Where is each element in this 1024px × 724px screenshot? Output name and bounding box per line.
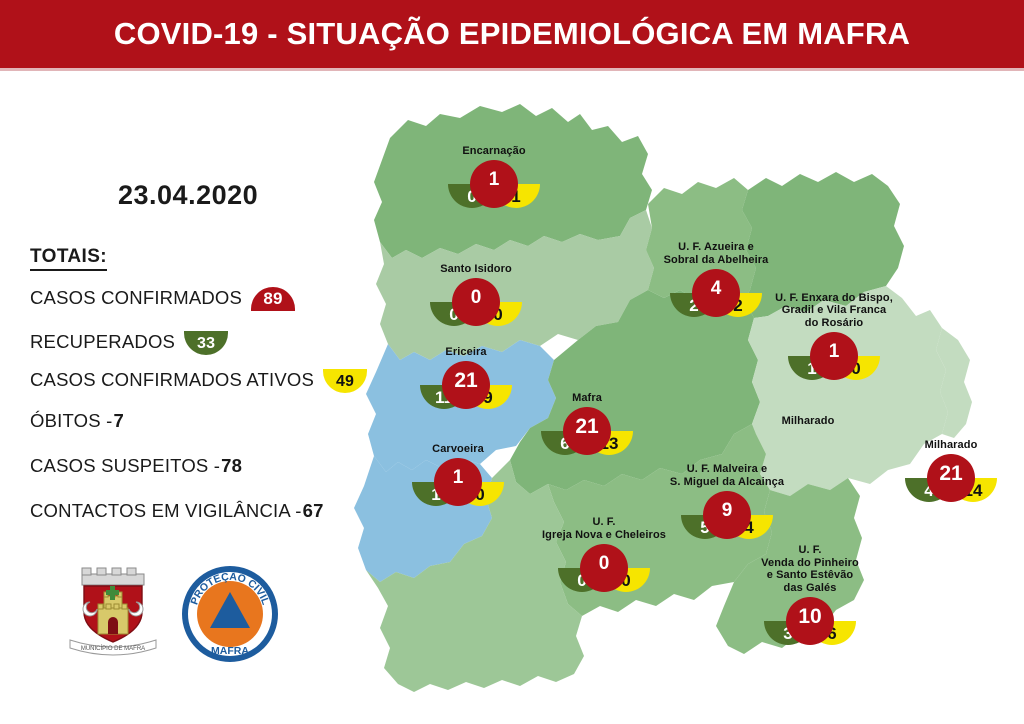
stat-row-0: CASOS CONFIRMADOS89: [30, 286, 295, 310]
map-marker-santo-isidoro[interactable]: Santo Isidoro000: [430, 278, 522, 350]
marker-confirmed-uf-enxara-gradil-vila-franca: 1: [810, 332, 858, 380]
map-marker-encarnacao[interactable]: Encarnação011: [448, 160, 540, 232]
totals-heading: TOTAIS:: [30, 246, 107, 271]
marker-label-santo-isidoro: Santo Isidoro: [360, 263, 592, 276]
report-date: 23.04.2020: [118, 180, 258, 211]
marker-label-uf-azueira-sobral-da-abelheira: U. F. Azueira eSobral da Abelheira: [600, 241, 832, 266]
logos-group: MUNICÍPIO DE MAFRA PROTEÇÃO CIVIL MAFRA: [60, 556, 280, 676]
marker-confirmed-ericeira: 21: [442, 361, 490, 409]
infographic-root: COVID-19 - SITUAÇÃO EPIDEMIOLÓGICA EM MA…: [0, 0, 1024, 724]
stat-label: CASOS CONFIRMADOS: [30, 287, 242, 309]
stat-value: 78: [221, 455, 242, 477]
page-title: COVID-19 - SITUAÇÃO EPIDEMIOLÓGICA EM MA…: [0, 0, 1024, 68]
marker-label-ericeira: Ericeira: [350, 346, 582, 359]
stat-label: CASOS CONFIRMADOS ATIVOS: [30, 369, 314, 391]
municipio-de-mafra-coat-of-arms: MUNICÍPIO DE MAFRA: [70, 568, 156, 655]
protecao-civil-mafra-badge: PROTEÇÃO CIVIL MAFRA: [185, 569, 275, 659]
stat-label: ÓBITOS -: [30, 410, 112, 432]
marker-confirmed-uf-azueira-sobral-da-abelheira: 4: [692, 269, 740, 317]
marker-confirmed-milharado: 21: [927, 454, 975, 502]
stat-value: 67: [303, 500, 324, 522]
marker-confirmed-mafra: 21: [563, 407, 611, 455]
map-region-label-0: Milharado: [748, 415, 868, 428]
logos-svg: MUNICÍPIO DE MAFRA PROTEÇÃO CIVIL MAFRA: [60, 556, 280, 676]
map-marker-uf-igreja-nova-cheleiros[interactable]: U. F.Igreja Nova e Cheleiros000: [558, 544, 650, 616]
protecao-civil-caption-bottom: MAFRA: [211, 645, 249, 657]
stat-row-2: CASOS CONFIRMADOS ATIVOS49: [30, 368, 367, 392]
marker-label-uf-venda-do-pinheiro-santo-estevao: U. F.Venda do Pinheiroe Santo Estêvãodas…: [694, 544, 926, 594]
map-marker-uf-venda-do-pinheiro-santo-estevao[interactable]: U. F.Venda do Pinheiroe Santo Estêvãodas…: [764, 597, 856, 669]
map-marker-ericeira[interactable]: Ericeira11921: [420, 361, 512, 433]
map-marker-uf-enxara-gradil-vila-franca[interactable]: U. F. Enxara do Bispo,Gradil e Vila Fran…: [788, 332, 880, 404]
marker-label-encarnacao: Encarnação: [378, 145, 610, 158]
map-marker-uf-azueira-sobral-da-abelheira[interactable]: U. F. Azueira eSobral da Abelheira224: [670, 269, 762, 341]
marker-confirmed-santo-isidoro: 0: [452, 278, 500, 326]
header-underline: [0, 68, 1024, 71]
stat-row-4: CASOS SUSPEITOS - 78: [30, 455, 242, 477]
stat-row-5: CONTACTOS EM VIGILÂNCIA - 67: [30, 500, 324, 522]
stat-label: CASOS SUSPEITOS -: [30, 455, 220, 477]
marker-confirmed-uf-venda-do-pinheiro-santo-estevao: 10: [786, 597, 834, 645]
marker-confirmed-uf-malveira-s-miguel-alcainca: 9: [703, 491, 751, 539]
marker-confirmed-encarnacao: 1: [470, 160, 518, 208]
municipio-caption: MUNICÍPIO DE MAFRA: [81, 645, 145, 652]
stat-badge-green-dome-down: 33: [184, 331, 228, 355]
stat-label: RECUPERADOS: [30, 331, 175, 353]
mafra-municipality-map: Milharado Encarnação011Santo Isidoro000E…: [330, 78, 1024, 718]
stat-badge-red-dome-up: 89: [251, 287, 295, 311]
marker-label-milharado: Milharado: [835, 439, 1024, 452]
stat-value: 7: [113, 410, 124, 432]
map-marker-milharado[interactable]: Milharado41421: [905, 454, 997, 526]
marker-label-carvoeira: Carvoeira: [342, 443, 574, 456]
stat-label: CONTACTOS EM VIGILÂNCIA -: [30, 500, 302, 522]
marker-confirmed-carvoeira: 1: [434, 458, 482, 506]
marker-label-uf-malveira-s-miguel-alcainca: U. F. Malveira eS. Miguel da Alcainça: [611, 463, 843, 488]
stat-row-3: ÓBITOS - 7: [30, 410, 124, 432]
marker-confirmed-uf-igreja-nova-cheleiros: 0: [580, 544, 628, 592]
stat-row-1: RECUPERADOS33: [30, 330, 228, 354]
